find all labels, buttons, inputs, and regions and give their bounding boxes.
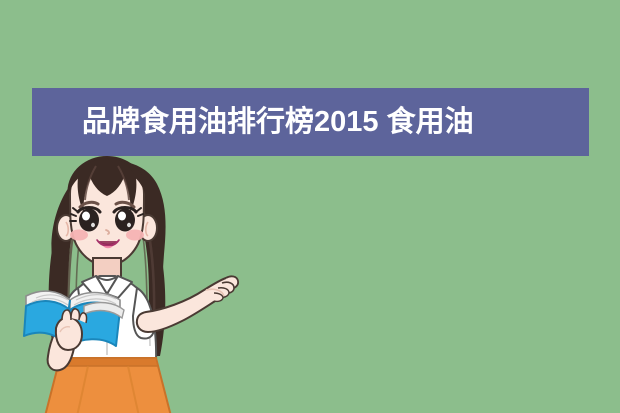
page-canvas: 品牌食用油排行榜2015 食用油 (0, 0, 620, 413)
page-title: 品牌食用油排行榜2015 食用油 (32, 108, 474, 137)
cartoon-girl-illustration (0, 150, 260, 413)
cartoon-girl-svg (0, 150, 260, 413)
title-banner: 品牌食用油排行榜2015 食用油 (32, 88, 589, 156)
